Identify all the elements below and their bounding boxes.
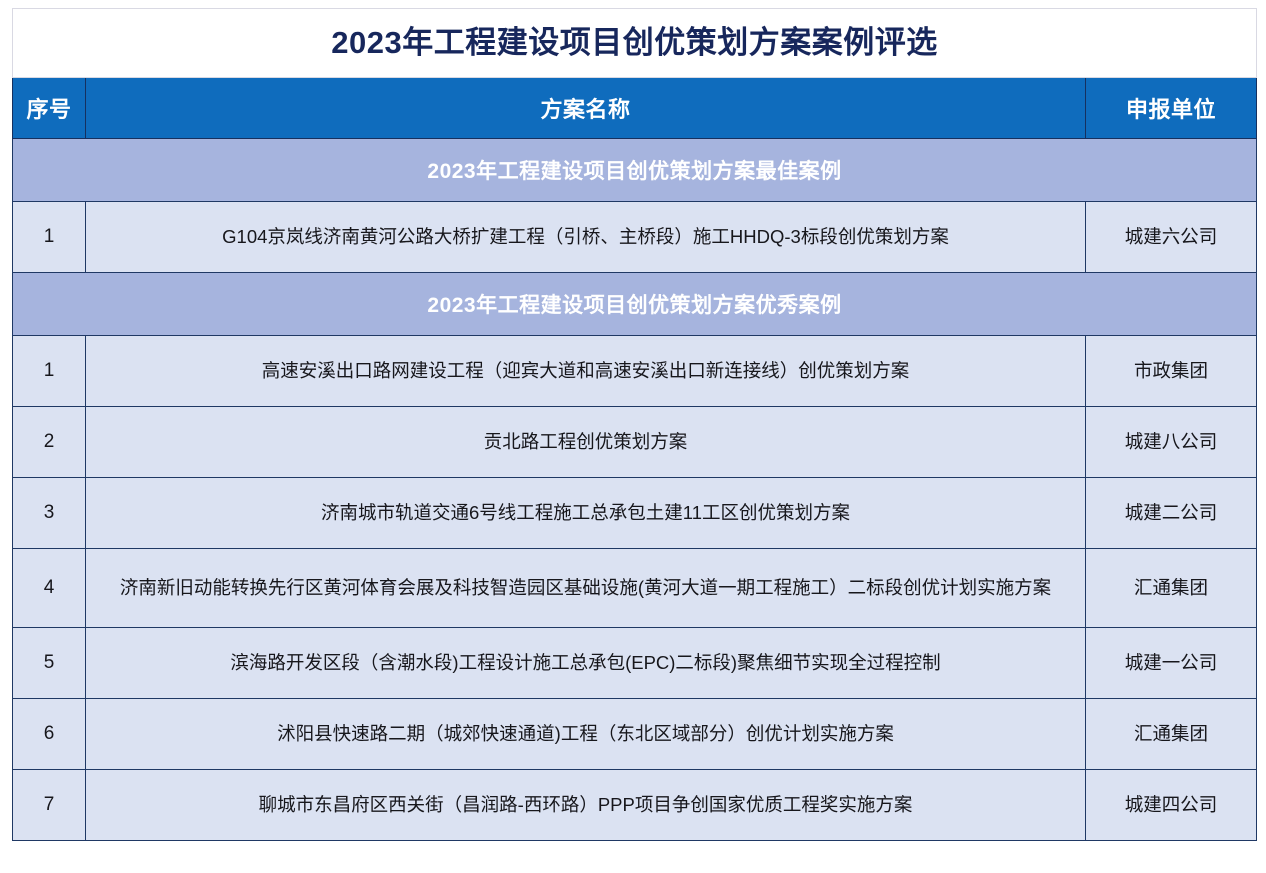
award-list-sheet: 2023年工程建设项目创优策划方案案例评选 序号 方案名称 申报单位 2023年…: [12, 8, 1256, 861]
row-unit-cell: 汇通集团: [1086, 549, 1257, 628]
row-index: 7: [13, 792, 85, 818]
row-unit-cell: 城建八公司: [1086, 407, 1257, 478]
row-name-cell: 聊城市东昌府区西关街（昌润路-西环路）PPP项目争创国家优质工程奖实施方案: [86, 770, 1086, 841]
row-index: 5: [13, 650, 85, 676]
table-row: 4 济南新旧动能转换先行区黄河体育会展及科技智造园区基础设施(黄河大道一期工程施…: [13, 549, 1257, 628]
row-index-cell: 1: [13, 336, 86, 407]
row-declaring-unit: 城建二公司: [1086, 501, 1256, 526]
row-index-cell: 1: [13, 202, 86, 273]
table-row: 1 高速安溪出口路网建设工程（迎宾大道和高速安溪出口新连接线）创优策划方案 市政…: [13, 336, 1257, 407]
column-header-index: 序号: [13, 78, 86, 139]
row-index-cell: 3: [13, 478, 86, 549]
column-header-row: 序号 方案名称 申报单位: [13, 78, 1257, 139]
section-band-cell-excellent: 2023年工程建设项目创优策划方案优秀案例: [13, 273, 1257, 336]
row-index-cell: 4: [13, 549, 86, 628]
row-index-cell: 7: [13, 770, 86, 841]
row-index: 1: [13, 358, 85, 384]
row-index: 6: [13, 721, 85, 747]
row-plan-name: 高速安溪出口路网建设工程（迎宾大道和高速安溪出口新连接线）创优策划方案: [86, 353, 1085, 389]
row-index-cell: 2: [13, 407, 86, 478]
row-declaring-unit: 汇通集团: [1086, 722, 1256, 747]
table-row: 2 贡北路工程创优策划方案 城建八公司: [13, 407, 1257, 478]
column-header-name-label: 方案名称: [86, 92, 1085, 124]
section-band-label: 2023年工程建设项目创优策划方案最佳案例: [13, 155, 1256, 185]
row-index: 1: [13, 224, 85, 250]
row-name-cell: 滨海路开发区段（含潮水段)工程设计施工总承包(EPC)二标段)聚焦细节实现全过程…: [86, 628, 1086, 699]
row-index-cell: 6: [13, 699, 86, 770]
section-band-label: 2023年工程建设项目创优策划方案优秀案例: [13, 289, 1256, 319]
column-header-unit: 申报单位: [1086, 78, 1257, 139]
row-unit-cell: 城建四公司: [1086, 770, 1257, 841]
row-index: 4: [13, 575, 85, 601]
page-title: 2023年工程建设项目创优策划方案案例评选: [13, 26, 1256, 60]
table-row: 5 滨海路开发区段（含潮水段)工程设计施工总承包(EPC)二标段)聚焦细节实现全…: [13, 628, 1257, 699]
award-table-body: 2023年工程建设项目创优策划方案案例评选 序号 方案名称 申报单位 2023年…: [13, 9, 1257, 841]
row-name-cell: 贡北路工程创优策划方案: [86, 407, 1086, 478]
row-declaring-unit: 城建八公司: [1086, 430, 1256, 455]
section-band-row: 2023年工程建设项目创优策划方案最佳案例: [13, 139, 1257, 202]
row-name-cell: 高速安溪出口路网建设工程（迎宾大道和高速安溪出口新连接线）创优策划方案: [86, 336, 1086, 407]
row-plan-name: 贡北路工程创优策划方案: [86, 424, 1085, 460]
row-index: 3: [13, 500, 85, 526]
table-row: 3 济南城市轨道交通6号线工程施工总承包土建11工区创优策划方案 城建二公司: [13, 478, 1257, 549]
table-row: 6 沭阳县快速路二期（城郊快速通道)工程（东北区域部分）创优计划实施方案 汇通集…: [13, 699, 1257, 770]
table-row: 7 聊城市东昌府区西关街（昌润路-西环路）PPP项目争创国家优质工程奖实施方案 …: [13, 770, 1257, 841]
section-band-row: 2023年工程建设项目创优策划方案优秀案例: [13, 273, 1257, 336]
column-header-index-label: 序号: [13, 92, 85, 124]
section-band-cell-best: 2023年工程建设项目创优策划方案最佳案例: [13, 139, 1257, 202]
row-plan-name: G104京岚线济南黄河公路大桥扩建工程（引桥、主桥段）施工HHDQ-3标段创优策…: [86, 219, 1085, 255]
row-plan-name: 聊城市东昌府区西关街（昌润路-西环路）PPP项目争创国家优质工程奖实施方案: [86, 787, 1085, 823]
row-unit-cell: 城建六公司: [1086, 202, 1257, 273]
row-plan-name: 沭阳县快速路二期（城郊快速通道)工程（东北区域部分）创优计划实施方案: [86, 716, 1085, 752]
table-row: 1 G104京岚线济南黄河公路大桥扩建工程（引桥、主桥段）施工HHDQ-3标段创…: [13, 202, 1257, 273]
row-declaring-unit: 汇通集团: [1086, 576, 1256, 601]
award-table: 2023年工程建设项目创优策划方案案例评选 序号 方案名称 申报单位 2023年…: [12, 8, 1257, 841]
row-unit-cell: 城建一公司: [1086, 628, 1257, 699]
row-unit-cell: 市政集团: [1086, 336, 1257, 407]
row-unit-cell: 城建二公司: [1086, 478, 1257, 549]
row-name-cell: 济南城市轨道交通6号线工程施工总承包土建11工区创优策划方案: [86, 478, 1086, 549]
row-declaring-unit: 市政集团: [1086, 359, 1256, 384]
row-unit-cell: 汇通集团: [1086, 699, 1257, 770]
row-index-cell: 5: [13, 628, 86, 699]
row-name-cell: 沭阳县快速路二期（城郊快速通道)工程（东北区域部分）创优计划实施方案: [86, 699, 1086, 770]
row-plan-name: 滨海路开发区段（含潮水段)工程设计施工总承包(EPC)二标段)聚焦细节实现全过程…: [86, 645, 1085, 681]
row-declaring-unit: 城建一公司: [1086, 651, 1256, 676]
row-declaring-unit: 城建四公司: [1086, 793, 1256, 818]
row-plan-name: 济南新旧动能转换先行区黄河体育会展及科技智造园区基础设施(黄河大道一期工程施工）…: [86, 570, 1085, 606]
row-plan-name: 济南城市轨道交通6号线工程施工总承包土建11工区创优策划方案: [86, 495, 1085, 531]
document-title-cell: 2023年工程建设项目创优策划方案案例评选: [13, 9, 1257, 78]
column-header-name: 方案名称: [86, 78, 1086, 139]
column-header-unit-label: 申报单位: [1086, 92, 1256, 124]
title-row: 2023年工程建设项目创优策划方案案例评选: [13, 9, 1257, 78]
row-index: 2: [13, 429, 85, 455]
row-declaring-unit: 城建六公司: [1086, 225, 1256, 250]
row-name-cell: G104京岚线济南黄河公路大桥扩建工程（引桥、主桥段）施工HHDQ-3标段创优策…: [86, 202, 1086, 273]
row-name-cell: 济南新旧动能转换先行区黄河体育会展及科技智造园区基础设施(黄河大道一期工程施工）…: [86, 549, 1086, 628]
